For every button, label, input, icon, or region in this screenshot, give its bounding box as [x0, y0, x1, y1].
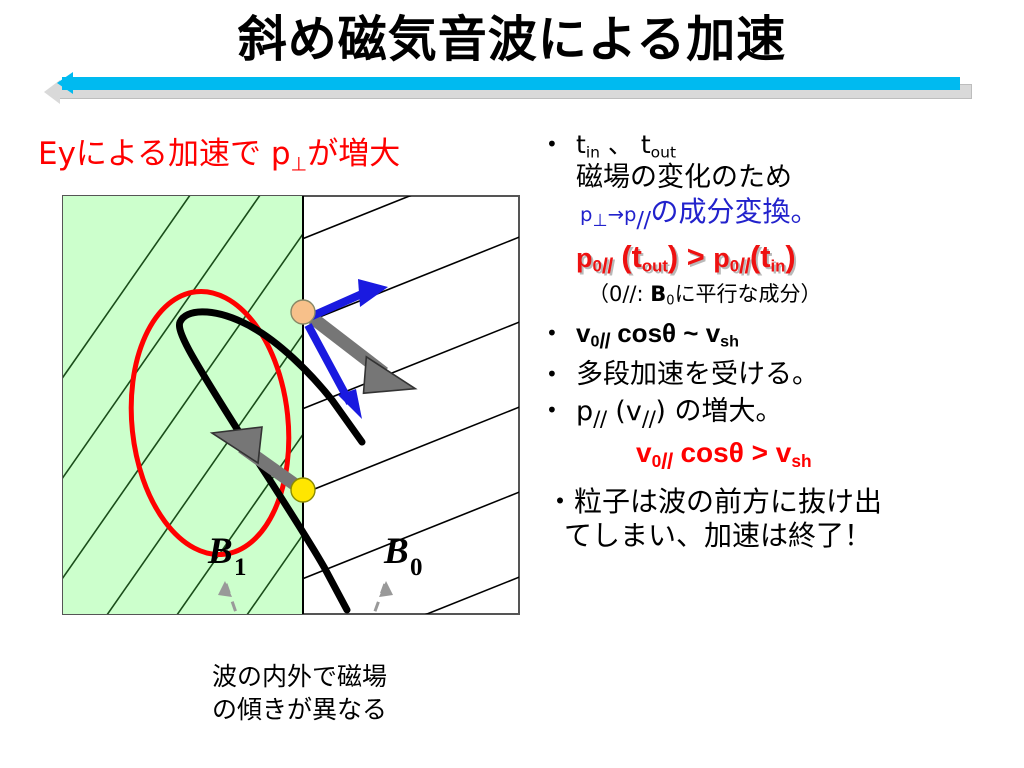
note-b-subscript: 0 [666, 294, 674, 309]
p0-out-slashes: // [602, 253, 613, 278]
v0-zero-2: 0 [652, 451, 662, 471]
theta-symbol: θ [729, 437, 744, 468]
bullet-list: • tin 、 tout 磁場の変化のため p⊥→p//の成分変換。 p0// … [530, 130, 1020, 554]
conversion-arrow: → [608, 203, 624, 226]
p0-out-zero: 0 [593, 257, 602, 276]
v-sh-subscript: sh [720, 333, 739, 351]
t-out-close-paren: ) [668, 239, 678, 274]
formula-momentum-inequality: p0// (tout) > p0//(tin) [576, 239, 1020, 279]
diagram-caption-line2: の傾きが異なる [212, 693, 472, 726]
bullet-item-3: • 多段加速を受ける。 [530, 359, 1020, 391]
label-b1: B [207, 531, 233, 572]
title-underline-decoration [52, 74, 972, 108]
title-bar-accent [62, 77, 960, 90]
bullet-item-4: • p// (v//) の増大。 [530, 396, 1020, 432]
increase-text: ) の増大。 [655, 396, 782, 427]
t-out-subscript: out [651, 143, 676, 161]
note-b-symbol: B [650, 282, 666, 306]
formula-velocity-inequality: v0// cosθ > vsh [636, 436, 1020, 475]
bullet-item-5: ・粒子は波の前方に抜け出 てしまい、加速は終了！ [530, 485, 1020, 553]
p-perp-subscript: ⊥ [592, 211, 607, 231]
left-heading-subscript: ⊥ [291, 153, 308, 176]
magnetosonic-wave-diagram: B 1 B 0 [62, 195, 520, 615]
v-par-slashes: // [642, 407, 656, 432]
t-in-symbol: t [576, 130, 586, 159]
cos-label: cos [673, 437, 729, 468]
note-rest: に平行な成分） [675, 282, 822, 306]
v0-par-symbol-2: v [636, 437, 652, 468]
v-sh-subscript-2: sh [791, 451, 811, 471]
v0-par-symbol: v [576, 318, 590, 348]
conversion-text: の成分変換。 [651, 195, 819, 228]
note-open: （0//: [588, 282, 650, 306]
p0-par-out-symbol: p [576, 243, 593, 273]
p0-in-zero: 0 [730, 257, 739, 276]
t-in-sub: in [771, 257, 786, 276]
bullet-1-line-3: p⊥→p//の成分変換。 [580, 194, 1020, 235]
particle-dot-entry [291, 478, 315, 502]
bullet-item-1: • tin 、 tout 磁場の変化のため p⊥→p//の成分変換。 [530, 130, 1020, 235]
v0-slashes: // [599, 330, 610, 353]
left-heading-pre: Eyによる加速で p [38, 136, 291, 172]
page-title: 斜め磁気音波による加速 [0, 14, 1024, 65]
t-in-open-paren: (t [750, 239, 771, 274]
left-section-heading: Eyによる加速で p⊥が増大 [38, 128, 508, 176]
p0-par-in-symbol: p [713, 243, 730, 273]
bullet-dot-icon: • [546, 323, 558, 343]
bullet-2-formula: v0// cosθ ~ vsh [576, 318, 1020, 354]
p-par-slashes: // [636, 207, 650, 233]
diagram-caption: 波の内外で磁場 の傾きが異なる [212, 660, 472, 727]
bullet-dot-icon: • [546, 400, 558, 420]
p-par-symbol-2: p [576, 396, 593, 427]
p-par-slashes-2: // [593, 407, 607, 432]
t-in-close-paren: ) [785, 239, 795, 274]
bullet-dot-icon: • [546, 364, 558, 384]
diagram-caption-line1: 波の内外で磁場 [212, 660, 472, 693]
t-in-subscript: in [586, 143, 600, 161]
v-par-open: (v [607, 396, 642, 427]
bullet-1-line-2: 磁場の変化のため [576, 162, 1020, 194]
bullet-4-text: p// (v//) の増大。 [576, 396, 1020, 432]
particle-dot-exit [291, 300, 315, 324]
p-par-symbol: p [624, 203, 636, 226]
cos-theta-approx: cosθ ~ v [610, 318, 720, 348]
separator-text: 、 t [600, 130, 651, 159]
p-perp-symbol: p [580, 203, 592, 226]
left-arrow-icon [57, 72, 73, 94]
label-b0: B [383, 531, 409, 572]
bullet-item-2: • v0// cosθ ~ vsh [530, 318, 1020, 354]
t-out-open-paren: (t [613, 239, 642, 274]
greater-than-vsh: > v [744, 437, 791, 468]
t-out-sub: out [642, 257, 668, 276]
label-b0-subscript: 0 [410, 554, 423, 581]
bullet-5-line-2: てしまい、加速は終了！ [564, 519, 1020, 553]
v0-slashes-2: // [661, 448, 672, 473]
bullet-5-line-1: ・粒子は波の前方に抜け出 [546, 485, 1020, 519]
left-heading-post: が増大 [307, 136, 400, 172]
bullet-3-text: 多段加速を受ける。 [576, 359, 1020, 391]
p0-in-slashes: // [739, 253, 750, 278]
bullet-dot-icon: • [546, 134, 558, 154]
note-parallel-component: （0//: B0に平行な成分） [588, 282, 1020, 309]
bullet-1-line-1: tin 、 tout [576, 130, 1020, 162]
greater-than-sign: > [678, 239, 713, 274]
label-b1-subscript: 1 [234, 554, 247, 581]
